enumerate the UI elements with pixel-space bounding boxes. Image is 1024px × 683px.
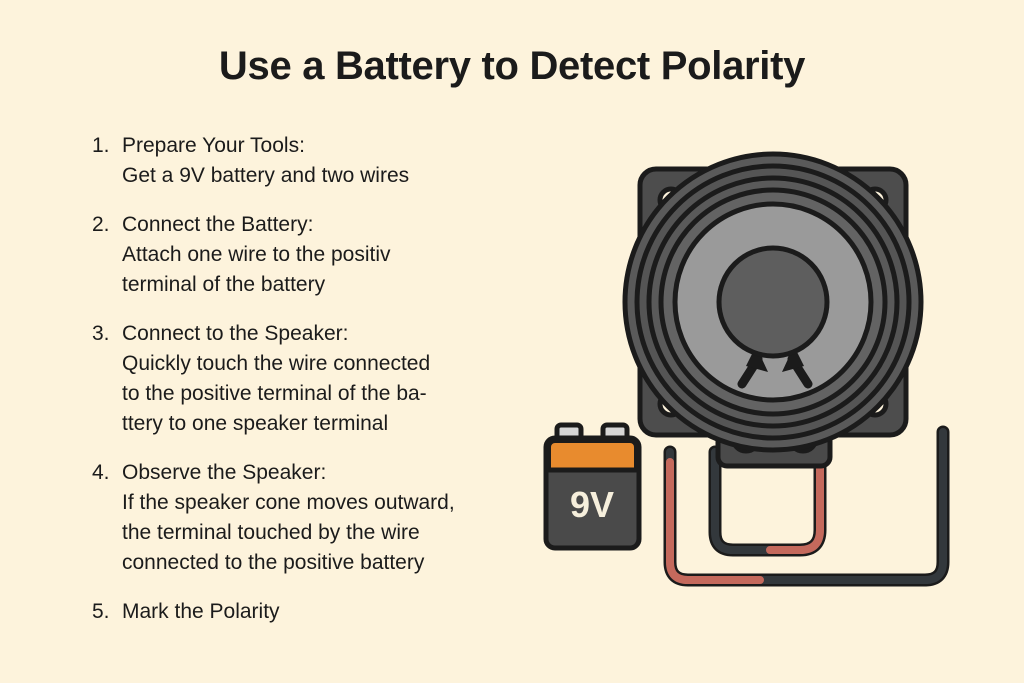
step-detail-line: Attach one wire to the positiv — [122, 240, 547, 270]
step-item: 2.Connect the Battery:Attach one wire to… — [92, 210, 547, 300]
step-heading: Observe the Speaker: — [122, 458, 547, 488]
step-number: 4. — [92, 458, 122, 488]
step-body: Connect the Battery:Attach one wire to t… — [122, 210, 547, 300]
step-item: 5.Mark the Polarity — [92, 597, 547, 627]
step-number: 1. — [92, 131, 122, 161]
step-detail-line: If the speaker cone moves outward, — [122, 488, 547, 518]
step-detail-line: connected to the positive battery — [122, 548, 547, 578]
step-number: 2. — [92, 210, 122, 240]
speaker — [625, 154, 921, 466]
step-number: 5. — [92, 597, 122, 627]
page-title: Use a Battery to Detect Polarity — [0, 44, 1024, 89]
step-heading: Prepare Your Tools: — [122, 131, 547, 161]
step-number: 3. — [92, 319, 122, 349]
step-body: Mark the Polarity — [122, 597, 547, 627]
battery-cap-band — [549, 441, 637, 471]
step-heading: Mark the Polarity — [122, 597, 547, 627]
step-body: Connect to the Speaker:Quickly touch the… — [122, 319, 547, 439]
step-heading: Connect the Battery: — [122, 210, 547, 240]
step-detail-line: ttery to one speaker terminal — [122, 409, 547, 439]
step-item: 4.Observe the Speaker:If the speaker con… — [92, 458, 547, 578]
speaker-battery-illustration: 9V — [520, 132, 990, 642]
battery-label: 9V — [570, 484, 614, 525]
step-detail-line: to the positive terminal of the ba- — [122, 379, 547, 409]
step-detail-line: terminal of the battery — [122, 270, 547, 300]
step-body: Prepare Your Tools:Get a 9V battery and … — [122, 131, 547, 191]
step-heading: Connect to the Speaker: — [122, 319, 547, 349]
step-item: 1.Prepare Your Tools:Get a 9V battery an… — [92, 131, 547, 191]
step-body: Observe the Speaker:If the speaker cone … — [122, 458, 547, 578]
infographic-canvas: Use a Battery to Detect Polarity 1.Prepa… — [0, 0, 1024, 683]
steps-list: 1.Prepare Your Tools:Get a 9V battery an… — [92, 131, 547, 646]
step-detail-line: the terminal touched by the wire — [122, 518, 547, 548]
step-item: 3.Connect to the Speaker:Quickly touch t… — [92, 319, 547, 439]
step-detail-line: Quickly touch the wire connected — [122, 349, 547, 379]
speaker-dome — [719, 248, 827, 356]
step-detail-line: Get a 9V battery and two wires — [122, 161, 547, 191]
battery-9v: 9V — [546, 425, 639, 548]
